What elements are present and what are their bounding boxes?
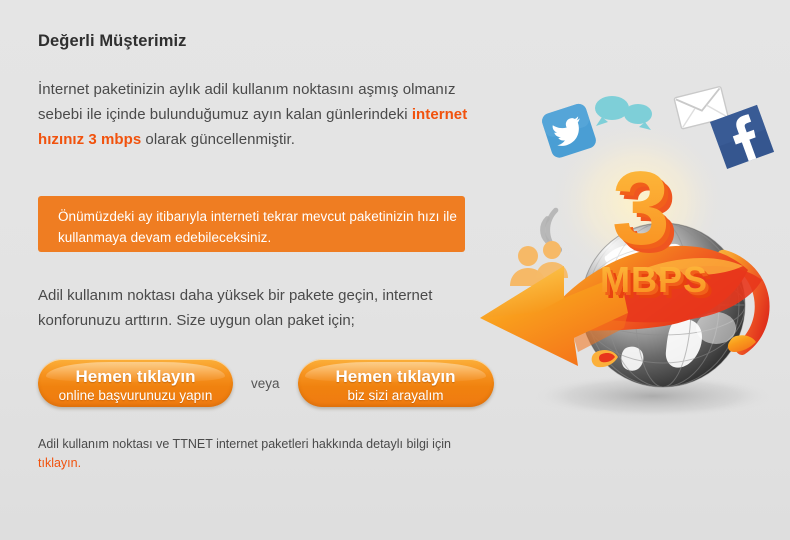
promo-page: Değerli Müşterimiz İnternet paketinizin … — [0, 0, 790, 540]
footer-details-link[interactable]: tıklayın. — [38, 456, 81, 470]
footer-note: Adil kullanım noktası ve TTNET internet … — [38, 435, 458, 473]
call-me-back-button-title: Hemen tıklayın — [298, 367, 494, 387]
speed-unit: MBPS — [600, 259, 708, 300]
apply-online-button-title: Hemen tıklayın — [38, 367, 233, 387]
apply-online-button-subtitle: online başvurunuzu yapın — [38, 387, 233, 405]
paragraph-secondary: Adil kullanım noktası daha yüksek bir pa… — [38, 283, 478, 333]
cta-row: Hemen tıklayın online başvurunuzu yapın … — [38, 359, 494, 407]
call-me-back-button[interactable]: Hemen tıklayın biz sizi arayalım — [298, 359, 494, 407]
page-title: Değerli Müşterimiz — [38, 32, 478, 51]
paragraph-primary: İnternet paketinizin aylık adil kullanım… — [38, 77, 478, 152]
notice-text: Önümüzdeki ay itibarıyla interneti tekra… — [58, 206, 465, 248]
speed-illustration: 3 3 3 MBPS MBPS MBPS — [478, 60, 790, 440]
illustration-svg: 3 3 3 MBPS MBPS MBPS — [478, 60, 790, 440]
cta-separator: veya — [251, 376, 280, 391]
text-content: Değerli Müşterimiz İnternet paketinizin … — [38, 32, 478, 152]
apply-online-button[interactable]: Hemen tıklayın online başvurunuzu yapın — [38, 359, 233, 407]
footer-note-text: Adil kullanım noktası ve TTNET internet … — [38, 437, 451, 451]
paragraph-primary-part1: İnternet paketinizin aylık adil kullanım… — [38, 81, 456, 123]
paragraph-primary-part2: olarak güncellenmiştir. — [141, 131, 295, 148]
speed-number: 3 — [612, 151, 670, 267]
call-me-back-button-subtitle: biz sizi arayalım — [298, 387, 494, 405]
notice-box: Önümüzdeki ay itibarıyla interneti tekra… — [38, 196, 465, 252]
